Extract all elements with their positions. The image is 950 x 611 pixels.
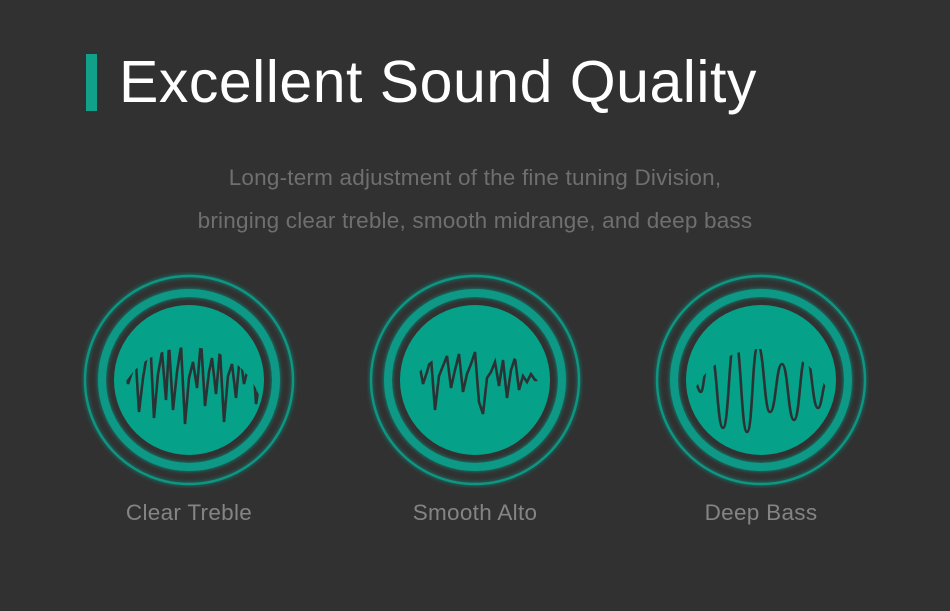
feature-item-clear-treble: Clear Treble [46, 272, 332, 526]
header: Excellent Sound Quality [86, 44, 757, 120]
feature-item-smooth-alto: Smooth Alto [332, 272, 618, 526]
promo-banner: Excellent Sound Quality Long-term adjust… [0, 0, 950, 611]
feature-label: Smooth Alto [413, 500, 538, 526]
subtitle-line-2: bringing clear treble, smooth midrange, … [0, 199, 950, 242]
feature-label: Clear Treble [126, 500, 252, 526]
waveform-bass-icon [653, 272, 869, 488]
feature-list: Clear Treble Smooth Alto [0, 272, 950, 526]
page-title: Excellent Sound Quality [119, 53, 757, 112]
waveform-alto-icon [367, 272, 583, 488]
waveform-treble-icon [81, 272, 297, 488]
feature-label: Deep Bass [705, 500, 818, 526]
accent-bar [86, 54, 97, 111]
subtitle: Long-term adjustment of the fine tuning … [0, 156, 950, 242]
feature-item-deep-bass: Deep Bass [618, 272, 904, 526]
subtitle-line-1: Long-term adjustment of the fine tuning … [0, 156, 950, 199]
